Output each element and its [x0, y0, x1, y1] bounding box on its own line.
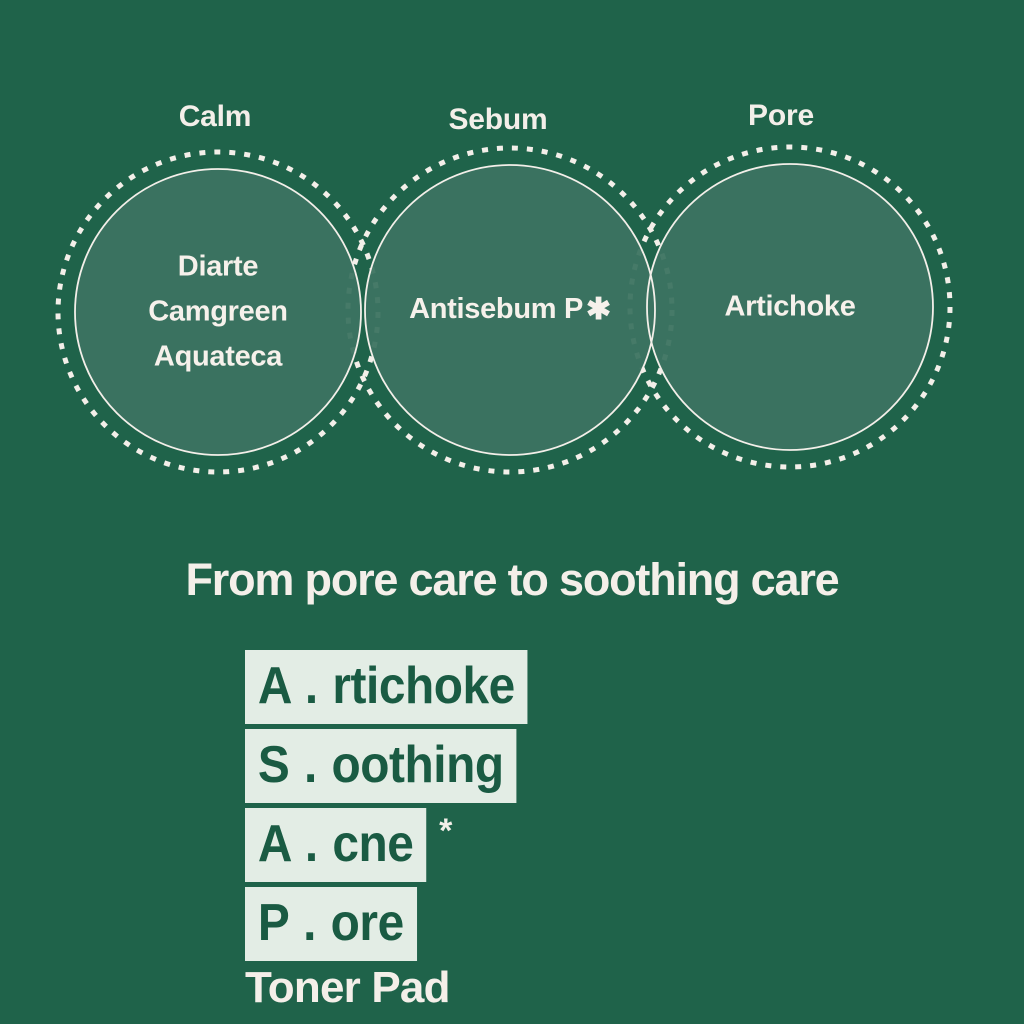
acronym-chip-a-cne: A . cne [245, 808, 426, 882]
acronym-initial: A [258, 815, 290, 873]
asterisk-icon: ✱ [583, 293, 611, 326]
calm-circle-text-line: Aquateca [154, 340, 282, 372]
acronym-rest: ore [331, 894, 404, 952]
venn-label-pore: Pore [748, 99, 814, 133]
poster-canvas: CalmSebumPore DiarteCamgreenAquatecaAnti… [0, 0, 1024, 1024]
acronym-separator: . [303, 657, 320, 715]
page-title: From pore care to soothing care [186, 554, 839, 606]
product-name: Toner Pad [245, 963, 450, 1013]
pore-circle-text-line: Artichoke [724, 291, 855, 323]
acronym-separator: . [303, 815, 320, 873]
acronym-chip-p-ore: P . ore [245, 887, 417, 961]
acronym-row: A . cne* [245, 808, 452, 882]
venn-diagram: CalmSebumPore DiarteCamgreenAquatecaAnti… [0, 0, 1024, 520]
acronym-rest: cne [332, 815, 413, 873]
acronym-separator: . [302, 736, 319, 794]
acronym-separator: . [301, 894, 318, 952]
acronym-row: S . oothing [245, 729, 540, 803]
acronym-initial: P [258, 894, 289, 952]
acronym-chip-s-oothing: S . oothing [245, 729, 517, 803]
venn-label-sebum: Sebum [448, 103, 547, 137]
acronym-chip-a-rtichoke: A . rtichoke [245, 650, 528, 724]
calm-circle-text-line: Camgreen [148, 296, 287, 328]
sebum-circle-text: Antisebum P✱ [409, 287, 611, 334]
acronym-rest: rtichoke [332, 657, 514, 715]
acronym-rest: oothing [332, 736, 504, 794]
calm-circle-text: DiarteCamgreenAquateca [148, 245, 287, 380]
sebum-circle-text-line: Antisebum P [409, 293, 583, 325]
pore-circle-text: Artichoke [724, 285, 855, 330]
venn-label-calm: Calm [179, 100, 252, 134]
calm-circle-text-line: Diarte [178, 251, 258, 283]
acronym-row: P . ore [245, 887, 432, 961]
acronym-initial: S [258, 736, 289, 794]
acronym-footnote-asterisk-icon: * [439, 814, 452, 848]
acronym-list: A . rtichokeS . oothingA . cne*P . ore [245, 650, 552, 961]
acronym-initial: A [258, 657, 290, 715]
acronym-row: A . rtichoke [245, 650, 552, 724]
